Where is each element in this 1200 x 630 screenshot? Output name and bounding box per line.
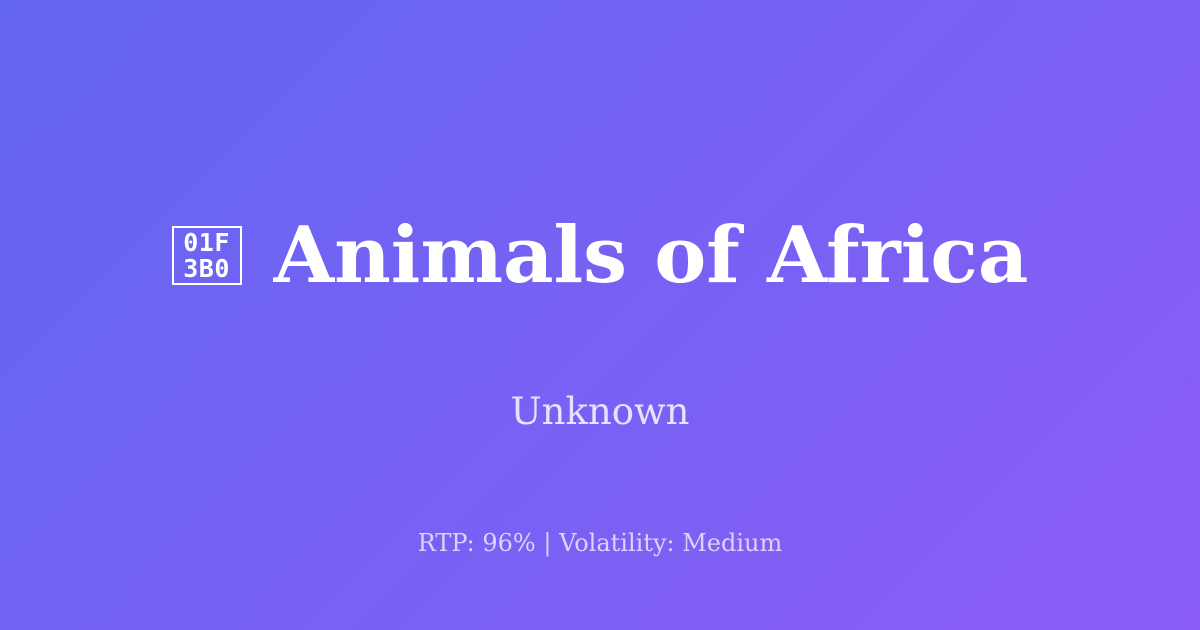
slot-machine-emoji-missing-glyph-icon: 01F 3B0 <box>172 226 242 285</box>
page-title: Animals of Africa <box>274 215 1029 296</box>
stats-footer: RTP: 96% | Volatility: Medium <box>0 529 1200 558</box>
og-share-card: 01F 3B0 Animals of Africa Unknown RTP: 9… <box>0 0 1200 630</box>
tofu-codepoint-bottom: 3B0 <box>183 256 230 282</box>
title-row: 01F 3B0 Animals of Africa <box>0 163 1200 349</box>
page-subtitle: Unknown <box>510 392 689 433</box>
tofu-codepoint-top: 01F <box>183 230 230 256</box>
